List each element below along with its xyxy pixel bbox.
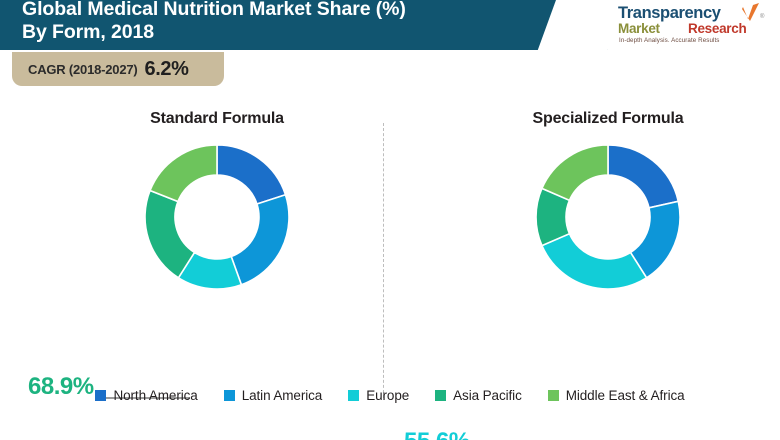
chart-legend: North AmericaLatin AmericaEuropeAsia Pac… (0, 382, 780, 408)
legend-swatch-icon (348, 390, 359, 401)
infographic-root: Global Medical Nutrition Market Share (%… (0, 0, 780, 440)
charts-container: Standard Formula Specialized Formula 68.… (0, 95, 780, 380)
chart-title-specialized: Specialized Formula (478, 110, 738, 128)
legend-label: Latin America (242, 388, 323, 403)
donut-slice-middle-east-africa[interactable] (542, 145, 608, 200)
registered-mark: ® (760, 14, 764, 20)
donut-slice-north-america[interactable] (608, 145, 678, 208)
callout-value-specialized: 55.6% (404, 428, 470, 440)
legend-item-europe[interactable]: Europe (348, 388, 409, 403)
donut-chart-specialized-formula (528, 137, 688, 302)
cagr-label: CAGR (2018-2027) (28, 62, 138, 77)
donut-slice-asia-pacific[interactable] (145, 190, 194, 277)
logo-text-market: Market (618, 21, 660, 36)
legend-swatch-icon (95, 390, 106, 401)
donut-chart-standard-formula (137, 137, 297, 302)
legend-label: Middle East & Africa (566, 388, 685, 403)
callout-specialized-formula: 55.6% (404, 428, 542, 440)
donut-svg-specialized (528, 137, 688, 297)
chart-divider (383, 123, 384, 398)
cagr-badge: CAGR (2018-2027) 6.2% (12, 52, 224, 86)
logo-text-research: Research (688, 21, 746, 36)
legend-item-middle-east-africa[interactable]: Middle East & Africa (548, 388, 685, 403)
legend-label: Europe (366, 388, 409, 403)
cagr-value: 6.2% (145, 58, 189, 81)
chart-title-standard: Standard Formula (87, 110, 347, 128)
donut-svg-standard (137, 137, 297, 297)
brand-logo: Transparency ® Market Research In-depth … (608, 0, 780, 50)
donut-slice-europe[interactable] (542, 234, 647, 289)
legend-item-latin-america[interactable]: Latin America (224, 388, 323, 403)
page-title-line2: By Form, 2018 (22, 21, 542, 44)
logo-tagline: In-depth Analysis. Accurate Results (619, 37, 720, 44)
check-mark-icon (741, 2, 761, 22)
legend-label: Asia Pacific (453, 388, 522, 403)
donut-slice-north-america[interactable] (217, 145, 285, 204)
legend-swatch-icon (224, 390, 235, 401)
donut-slice-middle-east-africa[interactable] (150, 145, 217, 202)
page-title: Global Medical Nutrition Market Share (%… (22, 0, 542, 44)
donut-slice-latin-america[interactable] (231, 195, 289, 285)
legend-swatch-icon (435, 390, 446, 401)
page-title-line1: Global Medical Nutrition Market Share (%… (22, 0, 406, 20)
legend-item-north-america[interactable]: North America (95, 388, 197, 403)
legend-swatch-icon (548, 390, 559, 401)
legend-item-asia-pacific[interactable]: Asia Pacific (435, 388, 522, 403)
legend-label: North America (113, 388, 197, 403)
